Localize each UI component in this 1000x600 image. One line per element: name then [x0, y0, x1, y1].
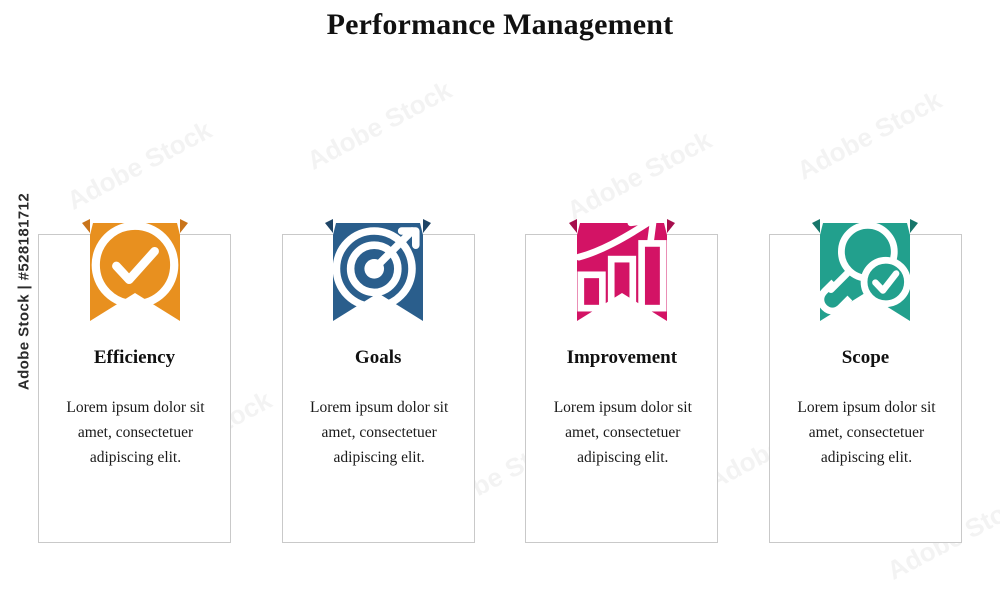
page-title: Performance Management: [0, 8, 1000, 42]
watermark-tile: Adobe Stock: [62, 115, 217, 217]
card-body-text: Lorem ipsum dolor sit amet, consectetuer…: [782, 395, 951, 470]
infographic-card-efficiency[interactable]: Efficiency Lorem ipsum dolor sit amet, c…: [38, 234, 231, 543]
infographic-card-list: Efficiency Lorem ipsum dolor sit amet, c…: [38, 234, 962, 544]
watermark-tile: Adobe Stock: [562, 125, 717, 227]
card-body-text: Lorem ipsum dolor sit amet, consectetuer…: [538, 395, 707, 470]
ribbon-banner-improvement: [569, 219, 675, 321]
watermark-tile: Adobe Stock: [792, 85, 947, 187]
infographic-card-improvement[interactable]: Improvement Lorem ipsum dolor sit amet, …: [525, 234, 718, 543]
magnifier-check-icon: [812, 236, 918, 294]
infographic-card-goals[interactable]: Goals Lorem ipsum dolor sit amet, consec…: [282, 234, 475, 543]
card-heading: Scope: [770, 347, 961, 369]
infographic-card-scope[interactable]: Scope Lorem ipsum dolor sit amet, consec…: [769, 234, 962, 543]
ribbon-banner-scope: [812, 219, 918, 321]
ribbon-banner-efficiency: [82, 219, 188, 321]
card-heading: Improvement: [526, 347, 717, 369]
card-body-text: Lorem ipsum dolor sit amet, consectetuer…: [51, 395, 220, 470]
card-heading: Efficiency: [39, 347, 230, 369]
check-circle-icon: [82, 236, 188, 294]
ribbon-banner-goals: [325, 219, 431, 321]
watermark-tile: Adobe Stock: [302, 75, 457, 177]
card-heading: Goals: [283, 347, 474, 369]
growth-bar-chart-icon: [569, 236, 675, 294]
adobe-stock-watermark-label: Adobe Stock | #528181712: [16, 32, 33, 552]
target-arrow-icon: [325, 236, 431, 294]
card-body-text: Lorem ipsum dolor sit amet, consectetuer…: [295, 395, 464, 470]
adobe-stock-watermark-strip: Adobe Stock | #528181712: [0, 0, 30, 600]
